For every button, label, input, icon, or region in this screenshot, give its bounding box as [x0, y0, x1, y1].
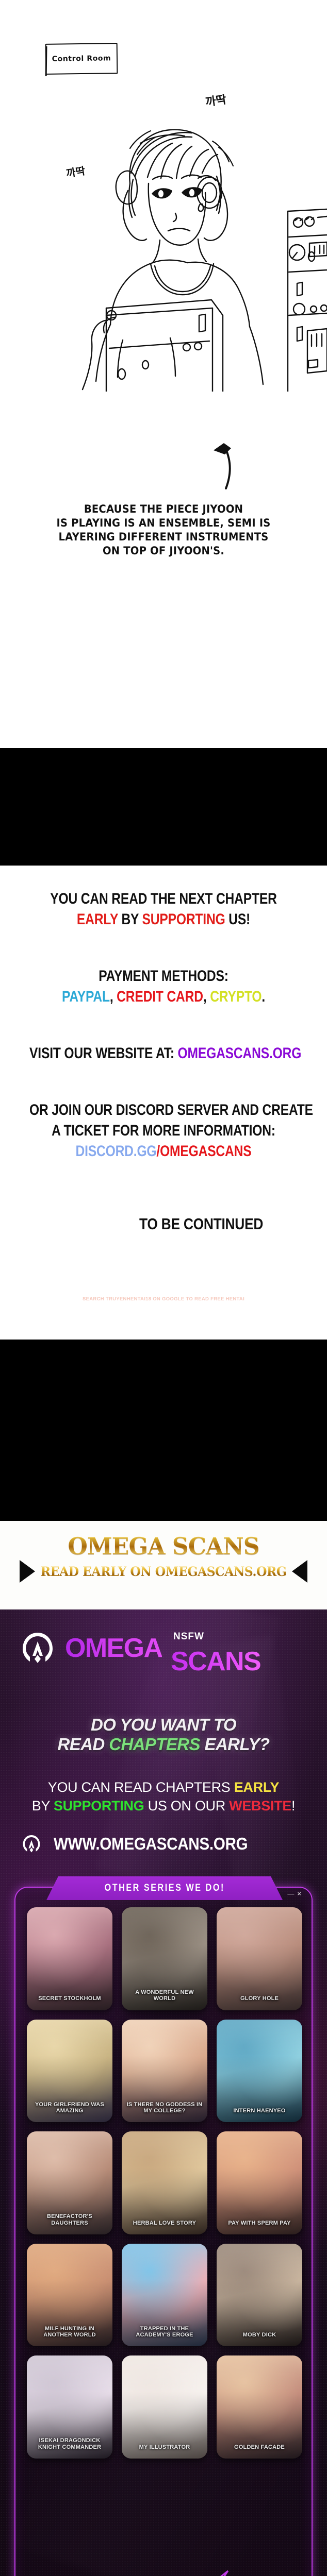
discord-line-2: A TICKET FOR MORE INFORMATION: — [29, 1122, 298, 1140]
sub2-supporting: SUPPORTING — [54, 1798, 144, 1814]
series-thumbnail-title: PAY WITH SPERM PAY — [217, 2220, 302, 2234]
lightning-accent-icon — [170, 2569, 263, 2576]
close-button[interactable]: × — [297, 1890, 304, 1897]
series-thumbnail-title: INTERN HAENYEO — [217, 2108, 302, 2122]
series-thumbnail[interactable]: IS THERE NO GODDESS IN MY COLLEGE? — [122, 2020, 207, 2123]
series-thumbnail[interactable]: TRAPPED IN THE ACADEMY'S EROGE — [122, 2244, 207, 2347]
series-thumbnail-title: HERBAL LOVE STORY — [122, 2220, 207, 2234]
black-spacer-bottom — [0, 1340, 327, 1521]
payment-methods-list: PAYPAL, CREDIT CARD, CRYPTO. — [29, 988, 298, 1006]
comic-panel: Control Room 까딱 까딱 — [0, 0, 327, 748]
gold-wordmark: OMEGA SCANS — [7, 1532, 321, 1560]
payment-sep-2: , — [203, 988, 210, 1005]
watermark-text: SEARCH TRUYENHENTAI18 ON GOOGLE TO READ … — [0, 1296, 327, 1302]
discord-url-domain: DISCORD.GG — [75, 1143, 156, 1160]
gold-logo-bar: OMEGA SCANS READ EARLY ON OMEGASCANS.ORG — [0, 1521, 327, 1609]
brand-scans-text: SCANS — [171, 1648, 260, 1675]
series-thumbnail[interactable]: MILF HUNTING IN ANOTHER WORLD — [27, 2244, 112, 2347]
series-window-titlebar: OTHER SERIES WE DO! — [46, 1876, 283, 1900]
hero-subline-1: YOU CAN READ CHAPTERS EARLY — [0, 1780, 327, 1795]
hero-chapters-word: CHAPTERS — [109, 1735, 200, 1754]
omega-scans-logo-icon — [19, 1629, 57, 1667]
support-message-block: YOU CAN READ THE NEXT CHAPTER EARLY BY S… — [0, 866, 327, 1340]
series-thumbnail[interactable]: YOUR GIRLFRIEND WAS AMAZING — [27, 2020, 112, 2123]
payment-sep-1: , — [110, 988, 117, 1005]
payment-paypal: PAYPAL — [62, 988, 110, 1005]
series-thumbnail-title: MILF HUNTING IN ANOTHER WORLD — [27, 2326, 112, 2347]
series-thumbnail-grid: SECRET STOCKHOLMA WONDERFUL NEW WORLDGLO… — [27, 1907, 302, 2459]
supporting-word: SUPPORTING — [142, 911, 225, 928]
hero-question: DO YOU WANT TO READ CHAPTERS EARLY? — [0, 1715, 327, 1754]
website-url-text[interactable]: WWW.OMEGASCANS.ORG — [54, 1834, 248, 1854]
control-room-sign-label: Control Room — [52, 54, 111, 63]
series-thumbnail[interactable]: HERBAL LOVE STORY — [122, 2131, 207, 2234]
discord-url-line[interactable]: DISCORD.GG/OMEGASCANS — [29, 1143, 298, 1160]
brand-omega-text: OMEGA — [65, 1633, 162, 1663]
brand-wordmark: OMEGA NSFW SCANS — [65, 1635, 162, 1662]
series-thumbnail[interactable]: GLORY HOLE — [217, 1907, 302, 2010]
series-thumbnail-title: SECRET STOCKHOLM — [27, 1995, 112, 2010]
series-thumbnail[interactable]: MY ILLUSTRATOR — [122, 2355, 207, 2459]
series-thumbnail[interactable]: BENEFACTOR'S DAUGHTERS — [27, 2131, 112, 2234]
dialogue-line-2: IS PLAYING IS AN ENSEMBLE, SEMI IS — [11, 516, 316, 530]
discord-line-1: OR JOIN OUR DISCORD SERVER AND CREATE — [29, 1101, 298, 1119]
discord-url-path: /OMEGASCANS — [156, 1143, 251, 1160]
black-spacer-top — [0, 748, 327, 866]
series-thumbnail-title: ISEKAI DRAGONDICK KNIGHT COMMANDER — [27, 2437, 112, 2459]
sub1-plain: YOU CAN READ CHAPTERS — [48, 1780, 234, 1795]
website-line: VISIT OUR WEBSITE AT: OMEGASCANS.ORG — [29, 1045, 298, 1062]
next-chapter-line: YOU CAN READ THE NEXT CHAPTER — [29, 890, 298, 908]
sub2-website: WEBSITE — [229, 1798, 291, 1814]
series-thumbnail-title: GOLDEN FACADE — [217, 2444, 302, 2459]
window-controls[interactable]: —× — [287, 1890, 304, 1897]
dialogue-line-3: LAYERING DIFFERENT INSTRUMENTS — [11, 530, 316, 544]
series-thumbnail-title: YOUR GIRLFRIEND WAS AMAZING — [27, 2102, 112, 2123]
control-room-sign: Control Room — [45, 43, 118, 75]
series-thumbnail-title: BENEFACTOR'S DAUGHTERS — [27, 2213, 112, 2234]
early-word: EARLY — [77, 911, 118, 928]
series-thumbnail-title: GLORY HOLE — [217, 1995, 302, 2010]
series-thumbnail-title: A WONDERFUL NEW WORLD — [122, 1989, 207, 2010]
curved-arrow-up-icon — [208, 428, 239, 489]
early-support-line: EARLY BY SUPPORTING US! — [29, 911, 298, 928]
hero-early-word: EARLY? — [200, 1735, 270, 1754]
gold-subtitle: READ EARLY ON OMEGASCANS.ORG — [10, 1564, 317, 1579]
payment-methods-heading: PAYMENT METHODS: — [29, 968, 298, 985]
brand-lockup: OMEGA NSFW SCANS — [19, 1629, 162, 1667]
payment-crypto: CRYPTO — [210, 988, 261, 1005]
series-thumbnail[interactable]: GOLDEN FACADE — [217, 2355, 302, 2459]
series-thumbnail-title: IS THERE NO GODDESS IN MY COLLEGE? — [122, 2102, 207, 2123]
by-word: BY — [118, 911, 142, 928]
website-label: VISIT OUR WEBSITE AT: — [29, 1045, 177, 1062]
sub2-bang: ! — [291, 1798, 295, 1814]
minimize-button[interactable]: — — [287, 1890, 297, 1897]
payment-period: . — [261, 988, 265, 1005]
hero-read-word: READ — [58, 1735, 109, 1754]
webtoon-page: Control Room 까딱 까딱 — [0, 0, 327, 2576]
website-url-link[interactable]: OMEGASCANS.ORG — [178, 1045, 302, 1062]
character-illustration — [0, 82, 327, 392]
dialogue-line-1: BECAUSE THE PIECE JIYOON — [11, 502, 316, 516]
sub1-early: EARLY — [234, 1780, 280, 1795]
sub2-by: BY — [32, 1798, 54, 1814]
us-word: US! — [225, 911, 251, 928]
series-thumbnail[interactable]: INTERN HAENYEO — [217, 2020, 302, 2123]
light-streak-2 — [196, 1636, 314, 1912]
series-thumbnail-title: MOBY DICK — [217, 2332, 302, 2346]
series-thumbnail-title: MY ILLUSTRATOR — [122, 2444, 207, 2459]
other-series-window: OTHER SERIES WE DO! —× SECRET STOCKHOLMA… — [14, 1887, 313, 2576]
series-thumbnail[interactable]: ISEKAI DRAGONDICK KNIGHT COMMANDER — [27, 2355, 112, 2459]
series-thumbnail[interactable]: MOBY DICK — [217, 2244, 302, 2347]
hero-subline-2: BY SUPPORTING US ON OUR WEBSITE! — [0, 1798, 327, 1814]
sub2-middle: US ON OUR — [144, 1798, 229, 1814]
brand-nsfw-badge: NSFW — [173, 1632, 204, 1641]
hero-question-line-2: READ CHAPTERS EARLY? — [0, 1735, 327, 1754]
series-thumbnail[interactable]: A WONDERFUL NEW WORLD — [122, 1907, 207, 2010]
omega-scans-small-logo-icon — [21, 1833, 42, 1855]
nsfw-promo-banner: OMEGA NSFW SCANS DO YOU WANT TO READ CHA… — [0, 1609, 327, 2576]
hero-question-line-1: DO YOU WANT TO — [0, 1715, 327, 1735]
series-window-title: OTHER SERIES WE DO! — [104, 1883, 224, 1894]
dialogue-line-4: ON TOP OF JIYOON'S. — [11, 544, 316, 558]
payment-credit-card: CREDIT CARD — [117, 988, 203, 1005]
website-url-row[interactable]: WWW.OMEGASCANS.ORG — [21, 1833, 269, 1855]
dialogue-text: BECAUSE THE PIECE JIYOON IS PLAYING IS A… — [11, 502, 316, 558]
to-be-continued-label: TO BE CONTINUED — [25, 1215, 303, 1233]
series-thumbnail-title: TRAPPED IN THE ACADEMY'S EROGE — [122, 2326, 207, 2347]
series-thumbnail[interactable]: PAY WITH SPERM PAY — [217, 2131, 302, 2234]
series-thumbnail[interactable]: SECRET STOCKHOLM — [27, 1907, 112, 2010]
